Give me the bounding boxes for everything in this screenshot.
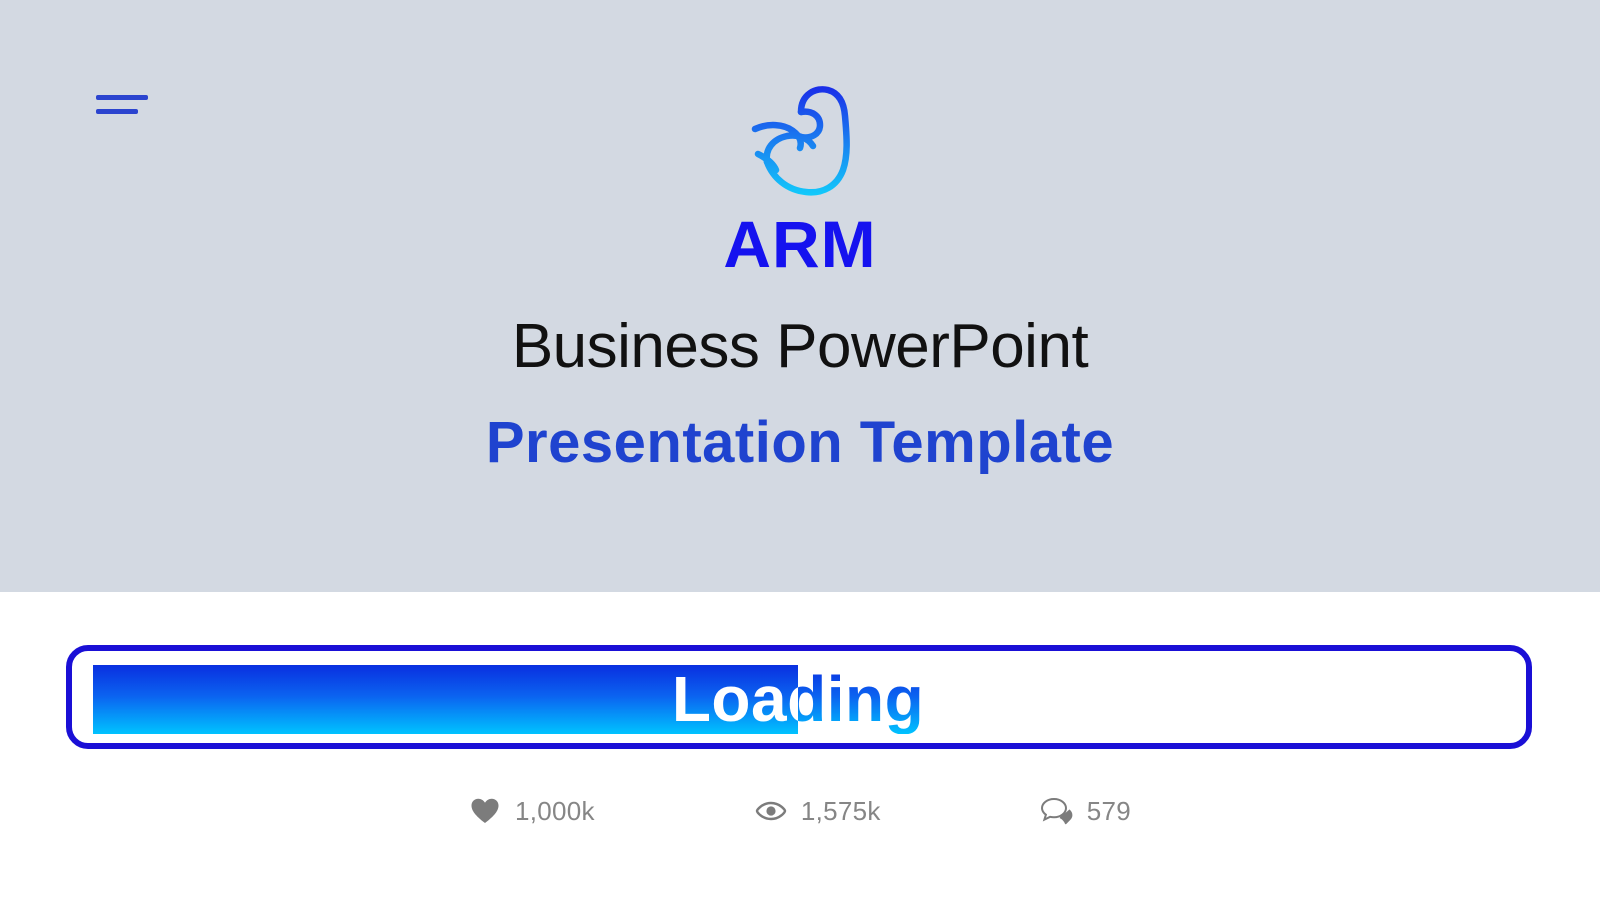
stats-row: 1,000k 1,575k 579 <box>0 795 1600 827</box>
brand-name: ARM <box>0 211 1600 277</box>
eye-icon <box>755 795 787 827</box>
flexed-bicep-icon <box>740 82 860 200</box>
stat-views-value: 1,575k <box>801 796 881 827</box>
page-subtitle: Presentation Template <box>0 410 1600 477</box>
heart-icon <box>469 795 501 827</box>
hero-section: ARM Business PowerPoint Presentation Tem… <box>0 0 1600 592</box>
hamburger-bar-bottom <box>96 109 138 114</box>
loading-progress-bar[interactable]: Loading Loading <box>66 645 1532 749</box>
stat-likes[interactable]: 1,000k <box>469 795 595 827</box>
progress-track: Loading Loading <box>93 665 1503 734</box>
comment-icon <box>1041 795 1073 827</box>
hamburger-bar-top <box>96 95 148 100</box>
stat-views[interactable]: 1,575k <box>755 795 881 827</box>
stat-comments[interactable]: 579 <box>1041 795 1131 827</box>
page-title: Business PowerPoint <box>0 311 1600 382</box>
stat-likes-value: 1,000k <box>515 796 595 827</box>
stat-comments-value: 579 <box>1087 796 1131 827</box>
slide-preview-page: ARM Business PowerPoint Presentation Tem… <box>0 0 1600 900</box>
hamburger-menu-icon[interactable] <box>96 95 148 125</box>
